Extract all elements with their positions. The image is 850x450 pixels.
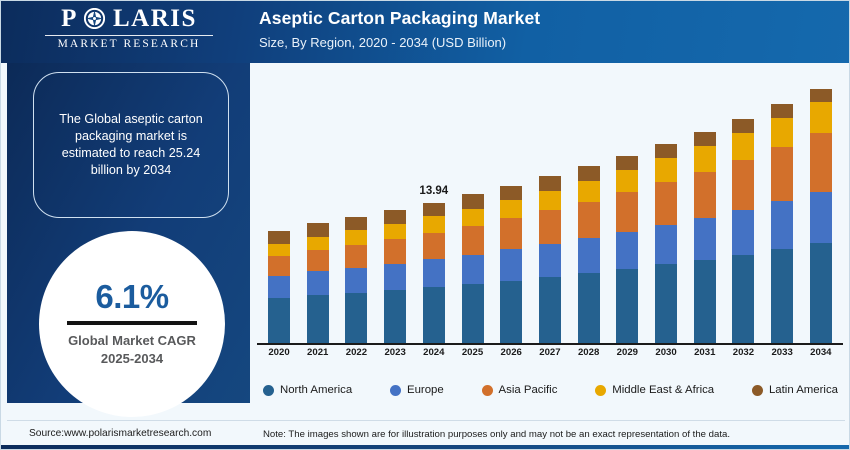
- x-axis-tick-label: 2028: [578, 347, 600, 367]
- page-title: Aseptic Carton Packaging Market: [259, 8, 540, 29]
- bar-segment[interactable]: [578, 181, 600, 202]
- plot-area: 13.94: [261, 71, 839, 343]
- bar-segment[interactable]: [732, 160, 754, 210]
- chart-panel: 13.94 2020202120222023202420252026202720…: [253, 63, 845, 421]
- legend-item[interactable]: Asia Pacific: [482, 384, 558, 396]
- bar-segment[interactable]: [616, 170, 638, 192]
- bar-segment[interactable]: [268, 244, 290, 257]
- cagr-value: 6.1%: [95, 278, 168, 316]
- bar-segment[interactable]: [694, 172, 716, 218]
- legend-item[interactable]: North America: [263, 384, 352, 396]
- x-axis-tick-label: 2022: [345, 347, 367, 367]
- bar-segment[interactable]: [655, 264, 677, 343]
- legend-item[interactable]: Europe: [390, 384, 444, 396]
- bar-segment[interactable]: [268, 231, 290, 244]
- bar-segment[interactable]: [539, 210, 561, 243]
- logo-tagline: MARKET RESEARCH: [19, 38, 239, 50]
- bar-segment[interactable]: [423, 203, 445, 217]
- bar-segment[interactable]: [345, 293, 367, 343]
- stacked-bar-series: 13.94: [261, 71, 839, 343]
- cagr-circle: 6.1% Global Market CAGR 2025-2034: [39, 231, 225, 417]
- legend-color-dot: [752, 385, 763, 396]
- legend-item[interactable]: Latin America: [752, 384, 838, 396]
- bar-segment[interactable]: [462, 209, 484, 226]
- bar-segment[interactable]: [500, 249, 522, 280]
- bar-segment[interactable]: [694, 146, 716, 171]
- bar-segment[interactable]: [810, 102, 832, 133]
- bar-segment[interactable]: [655, 144, 677, 158]
- bar-segment[interactable]: [423, 287, 445, 343]
- note-text: Note: The images shown are for illustrat…: [263, 429, 730, 440]
- compass-star-icon: [84, 8, 105, 29]
- header-bar: P LARIS MARKET RESEARCH Aseptic Carton P…: [1, 1, 850, 63]
- bar-segment[interactable]: [539, 244, 561, 277]
- logo-letter-p: P: [61, 5, 76, 32]
- bar-segment[interactable]: [655, 225, 677, 265]
- cagr-label-period: 2025-2034: [101, 351, 163, 366]
- bar-segment[interactable]: [539, 176, 561, 190]
- x-axis-tick-label: 2029: [616, 347, 638, 367]
- bar-segment[interactable]: [423, 233, 445, 260]
- x-axis-tick-label: 2034: [810, 347, 832, 367]
- bar-column[interactable]: [655, 71, 677, 343]
- bar-segment[interactable]: [732, 119, 754, 133]
- x-axis-tick-label: 2027: [539, 347, 561, 367]
- legend-label: North America: [280, 384, 352, 396]
- chart-legend: North AmericaEuropeAsia PacificMiddle Ea…: [263, 378, 838, 402]
- bar-segment[interactable]: [732, 133, 754, 160]
- bar-segment[interactable]: [462, 255, 484, 284]
- bar-column[interactable]: [268, 71, 290, 343]
- logo-letters-laris: LARIS: [113, 5, 197, 32]
- bar-segment[interactable]: [539, 277, 561, 343]
- bar-segment[interactable]: [771, 104, 793, 118]
- legend-color-dot: [263, 385, 274, 396]
- bar-column[interactable]: [732, 71, 754, 343]
- x-axis-line: [257, 343, 843, 345]
- bar-segment[interactable]: [345, 230, 367, 244]
- x-axis-tick-label: 2026: [500, 347, 522, 367]
- bar-segment[interactable]: [771, 118, 793, 147]
- bar-segment[interactable]: [384, 210, 406, 224]
- bar-segment[interactable]: [578, 166, 600, 181]
- x-axis-tick-label: 2030: [655, 347, 677, 367]
- bar-segment[interactable]: [655, 158, 677, 182]
- bar-segment[interactable]: [345, 268, 367, 293]
- bar-segment[interactable]: [500, 200, 522, 218]
- logo-divider: [45, 35, 213, 36]
- bar-segment[interactable]: [462, 284, 484, 343]
- bar-column[interactable]: 13.94: [423, 71, 445, 343]
- bar-column[interactable]: [384, 71, 406, 343]
- bar-segment[interactable]: [616, 192, 638, 231]
- bar-segment[interactable]: [384, 264, 406, 290]
- bar-segment[interactable]: [694, 132, 716, 146]
- title-block: Aseptic Carton Packaging Market Size, By…: [259, 8, 540, 50]
- bar-segment[interactable]: [384, 224, 406, 239]
- bar-segment[interactable]: [771, 201, 793, 249]
- bottom-accent-bar: [1, 445, 850, 450]
- bar-column[interactable]: [810, 71, 832, 343]
- cagr-label-primary: Global Market CAGR: [68, 333, 196, 348]
- bar-segment[interactable]: [307, 237, 329, 251]
- bar-column[interactable]: [307, 71, 329, 343]
- bar-segment[interactable]: [771, 249, 793, 343]
- bar-segment[interactable]: [732, 255, 754, 343]
- bar-segment[interactable]: [384, 239, 406, 264]
- bar-segment[interactable]: [307, 223, 329, 236]
- bar-segment[interactable]: [345, 245, 367, 268]
- source-text: Source:www.polarismarketresearch.com: [29, 428, 211, 439]
- legend-item[interactable]: Middle East & Africa: [595, 384, 714, 396]
- bar-segment[interactable]: [462, 194, 484, 208]
- bar-segment[interactable]: [307, 250, 329, 271]
- bar-segment[interactable]: [655, 182, 677, 224]
- bar-segment[interactable]: [539, 191, 561, 211]
- bar-segment[interactable]: [810, 133, 832, 191]
- bar-segment[interactable]: [578, 202, 600, 238]
- bar-segment[interactable]: [694, 260, 716, 343]
- x-axis-tick-label: 2021: [307, 347, 329, 367]
- bar-segment[interactable]: [616, 156, 638, 170]
- bar-column[interactable]: [500, 71, 522, 343]
- bar-segment[interactable]: [307, 271, 329, 295]
- bar-segment[interactable]: [810, 89, 832, 102]
- legend-label: Middle East & Africa: [612, 384, 714, 396]
- bar-value-label: 13.94: [419, 185, 448, 197]
- infographic-page: P LARIS MARKET RESEARCH Aseptic Carton P…: [0, 0, 850, 450]
- bar-column[interactable]: [694, 71, 716, 343]
- bar-segment[interactable]: [732, 210, 754, 255]
- polaris-logo: P LARIS MARKET RESEARCH: [19, 5, 239, 61]
- bar-segment[interactable]: [616, 269, 638, 343]
- bar-segment[interactable]: [771, 147, 793, 201]
- bar-column[interactable]: [462, 71, 484, 343]
- x-axis-tick-label: 2024: [423, 347, 445, 367]
- x-axis-labels: 2020202120222023202420252026202720282029…: [261, 347, 839, 367]
- bar-segment[interactable]: [810, 243, 832, 343]
- bar-segment[interactable]: [307, 295, 329, 343]
- bar-segment[interactable]: [423, 259, 445, 287]
- bar-segment[interactable]: [462, 226, 484, 255]
- legend-label: Asia Pacific: [499, 384, 558, 396]
- x-axis-tick-label: 2023: [384, 347, 406, 367]
- bar-segment[interactable]: [616, 232, 638, 269]
- bar-column[interactable]: [539, 71, 561, 343]
- sidebar-panel: The Global aseptic carton packaging mark…: [7, 63, 250, 403]
- legend-color-dot: [390, 385, 401, 396]
- bar-segment[interactable]: [500, 186, 522, 200]
- bar-segment[interactable]: [268, 298, 290, 343]
- legend-label: Latin America: [769, 384, 838, 396]
- callout-box: The Global aseptic carton packaging mark…: [33, 72, 229, 218]
- x-axis-tick-label: 2031: [694, 347, 716, 367]
- bar-segment[interactable]: [578, 238, 600, 273]
- bar-segment[interactable]: [345, 217, 367, 231]
- bar-column[interactable]: [771, 71, 793, 343]
- bar-segment[interactable]: [423, 216, 445, 232]
- bar-segment[interactable]: [694, 218, 716, 260]
- bar-segment[interactable]: [810, 192, 832, 243]
- legend-label: Europe: [407, 384, 444, 396]
- logo-wordmark: P LARIS: [19, 5, 239, 33]
- bar-segment[interactable]: [384, 290, 406, 343]
- cagr-divider: [67, 321, 197, 324]
- bar-segment[interactable]: [268, 276, 290, 298]
- x-axis-tick-label: 2033: [771, 347, 793, 367]
- footer-divider: [7, 420, 845, 421]
- x-axis-tick-label: 2032: [732, 347, 754, 367]
- legend-color-dot: [482, 385, 493, 396]
- page-subtitle: Size, By Region, 2020 - 2034 (USD Billio…: [259, 35, 540, 50]
- legend-color-dot: [595, 385, 606, 396]
- bar-segment[interactable]: [500, 281, 522, 343]
- bar-column[interactable]: [345, 71, 367, 343]
- bar-segment[interactable]: [578, 273, 600, 343]
- x-axis-tick-label: 2025: [462, 347, 484, 367]
- callout-text: The Global aseptic carton packaging mark…: [34, 111, 228, 179]
- bar-column[interactable]: [616, 71, 638, 343]
- x-axis-tick-label: 2020: [268, 347, 290, 367]
- bar-segment[interactable]: [268, 256, 290, 276]
- bar-column[interactable]: [578, 71, 600, 343]
- bar-segment[interactable]: [500, 218, 522, 249]
